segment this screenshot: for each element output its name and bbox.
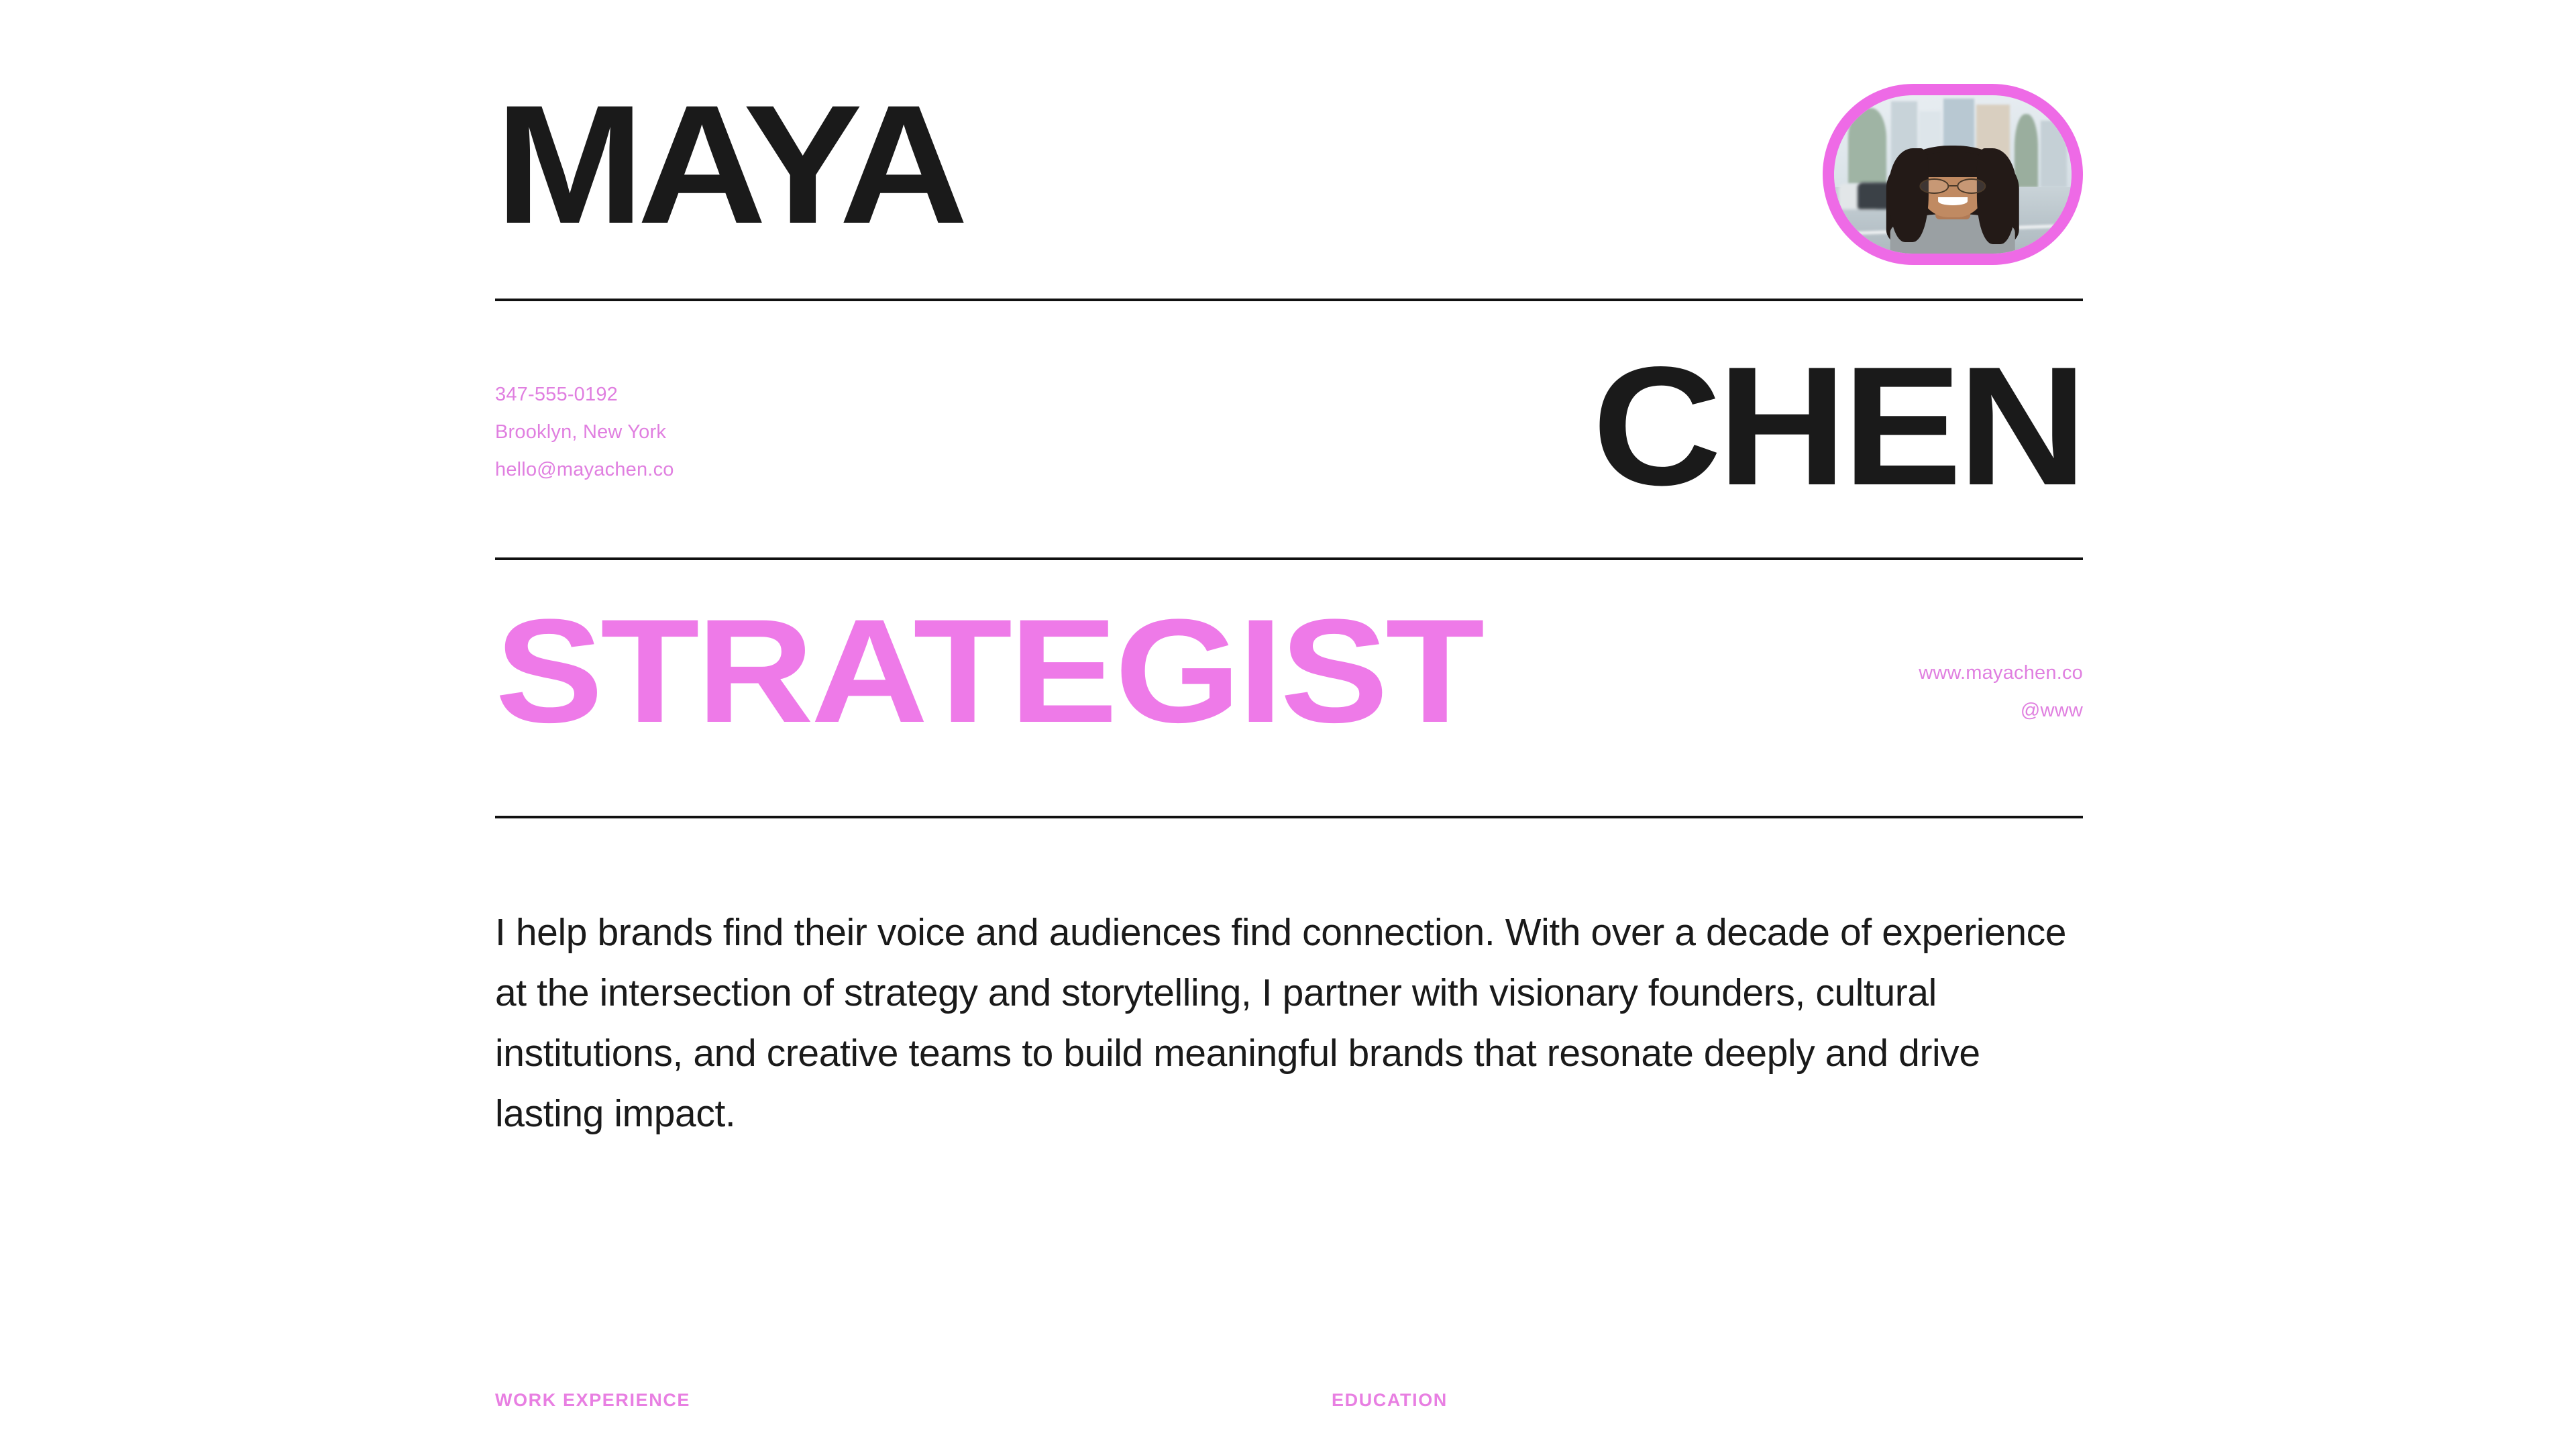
page-title-first-name: MAYA [495, 80, 961, 250]
photo-tree-left [1848, 108, 1886, 184]
social-handle[interactable]: @www [1919, 692, 2083, 729]
photo-glasses-bridge [1949, 185, 1957, 187]
contact-phone[interactable]: 347-555-0192 [495, 376, 674, 413]
divider-1 [495, 299, 2083, 301]
photo-lens-right [1957, 178, 1986, 194]
photo-lens-left [1919, 178, 1949, 194]
summary-paragraph: I help brands find their voice and audie… [495, 902, 2085, 1144]
web-links-block: www.mayachen.co @www [1919, 654, 2083, 729]
photo-hair-right [1977, 148, 2017, 244]
avatar-photo [1834, 95, 2072, 254]
role-title: STRATEGIST [495, 597, 1482, 745]
photo-building-5 [2041, 121, 2067, 187]
contact-email[interactable]: hello@mayachen.co [495, 451, 674, 488]
page-title-last-name: CHEN [1593, 342, 2083, 511]
contact-location: Brooklyn, New York [495, 413, 674, 451]
divider-3 [495, 816, 2083, 818]
photo-person [1886, 136, 2019, 254]
section-heading-education: EDUCATION [1332, 1390, 1448, 1411]
resume-content-column: MAYA [495, 0, 2083, 1449]
resume-page: MAYA [0, 0, 2576, 1449]
divider-2 [495, 557, 2083, 560]
website-link[interactable]: www.mayachen.co [1919, 654, 2083, 692]
photo-hair-left [1889, 148, 1929, 242]
section-heading-work-experience: WORK EXPERIENCE [495, 1390, 690, 1411]
glasses-icon [1919, 178, 1986, 194]
contact-block: 347-555-0192 Brooklyn, New York hello@ma… [495, 376, 674, 488]
avatar [1823, 84, 2083, 265]
